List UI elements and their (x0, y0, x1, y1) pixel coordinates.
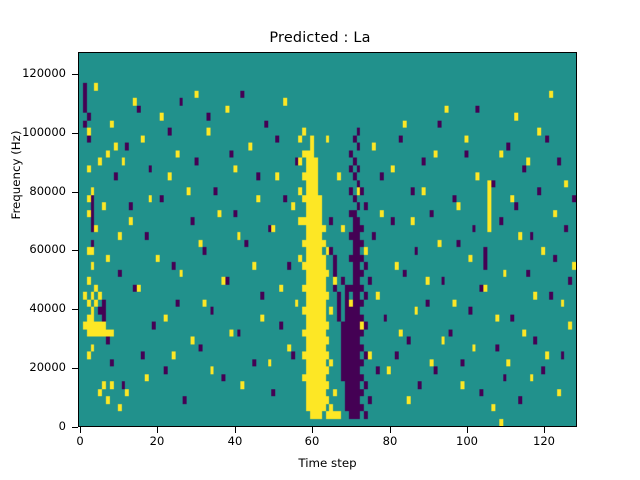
x-tick-mark (467, 427, 468, 433)
y-tick-mark (72, 427, 78, 428)
y-tick-label: 60000 (29, 244, 66, 256)
x-tick-mark (390, 427, 391, 433)
y-axis-label: Frequency (Hz) (9, 105, 23, 245)
x-tick-label: 20 (127, 436, 187, 448)
x-tick-label: 0 (50, 436, 110, 448)
y-tick-label: 20000 (29, 362, 66, 374)
y-tick-label: 80000 (29, 186, 66, 198)
y-tick-label: 120000 (22, 68, 66, 80)
x-tick-label: 60 (282, 436, 342, 448)
figure-canvas: Predicted : La 0 20000 40000 60000 80000… (0, 0, 640, 480)
y-tick-label: 40000 (29, 303, 66, 315)
y-tick-mark (72, 192, 78, 193)
y-tick-label: 0 (59, 421, 66, 433)
x-tick-mark (312, 427, 313, 433)
heatmap-axes[interactable] (78, 52, 577, 427)
y-tick-label: 100000 (22, 127, 66, 139)
x-tick-mark (80, 427, 81, 433)
y-tick-mark (72, 309, 78, 310)
x-axis-label: Time step (78, 456, 577, 470)
x-tick-label: 100 (437, 436, 497, 448)
x-tick-mark (157, 427, 158, 433)
page-title: Predicted : La (0, 30, 640, 46)
y-tick-mark (72, 133, 78, 134)
x-tick-mark (544, 427, 545, 433)
y-tick-mark (72, 250, 78, 251)
y-tick-mark (72, 74, 78, 75)
x-tick-mark (235, 427, 236, 433)
heatmap-image (79, 53, 576, 426)
x-tick-label: 40 (205, 436, 265, 448)
x-tick-label: 120 (514, 436, 574, 448)
x-tick-label: 80 (360, 436, 420, 448)
y-tick-mark (72, 368, 78, 369)
